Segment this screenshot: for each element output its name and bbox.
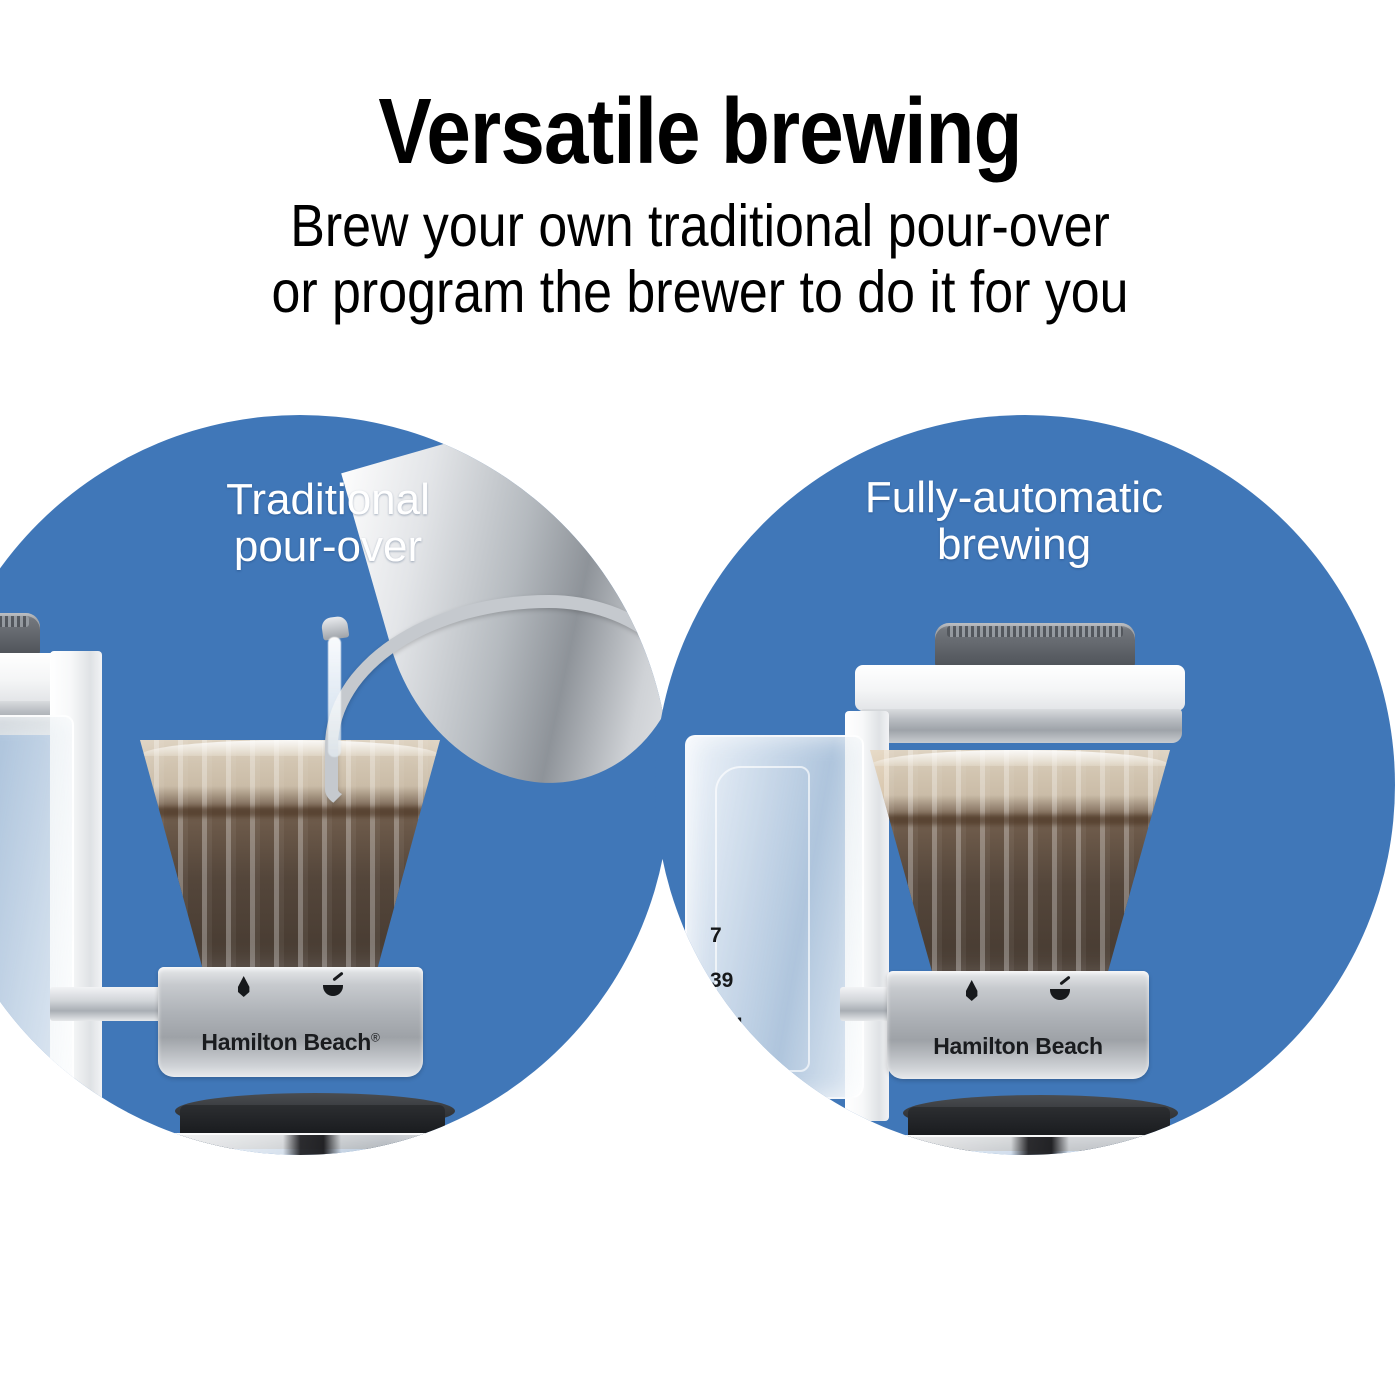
reservoir-mark: 591 <box>710 1015 774 1036</box>
reservoir-mark: 39 <box>710 970 774 991</box>
pouring-water-stream <box>328 637 341 757</box>
water-drop-icon <box>964 980 979 1001</box>
glass-carafe-traditional <box>145 1133 479 1155</box>
reservoir-mark: 296 <box>710 1105 774 1126</box>
carafe-measurement-strip <box>283 1135 341 1155</box>
registered-mark: ® <box>371 1030 380 1044</box>
brewer-cap-icon <box>0 613 40 657</box>
panel-label-line-2: brewing <box>655 522 1373 569</box>
gooseneck-spout <box>325 595 670 811</box>
pour-over-icon <box>323 976 345 996</box>
brand-text: Hamilton Beach <box>933 1033 1103 1059</box>
brand-collar-traditional: Hamilton Beach® <box>158 967 423 1077</box>
product-comparison-stage: Traditional pour-over 83 35 87 39 91 44 … <box>0 0 1400 1400</box>
carafe-measurement-strip <box>1011 1137 1069 1155</box>
coffee-grounds-line <box>882 815 1158 825</box>
water-reservoir <box>0 715 74 1099</box>
brand-name: Hamilton Beach <box>887 1033 1149 1060</box>
reservoir-unit-label: mL <box>703 1067 745 1101</box>
brand-collar-automatic: Hamilton Beach <box>887 971 1149 1079</box>
brewer-white-band <box>855 665 1185 711</box>
collar-icon-row <box>158 976 423 997</box>
reservoir-mark: 7 <box>710 925 774 946</box>
panel-label-line-2: pour-over <box>0 524 670 571</box>
cone-ribs <box>870 750 1170 975</box>
collar-icon-row <box>887 980 1149 1001</box>
brand-text: Hamilton Beach <box>201 1029 371 1055</box>
glass-carafe-automatic <box>873 1135 1207 1155</box>
brand-name: Hamilton Beach® <box>158 1029 423 1056</box>
brewer-cap-icon <box>935 623 1135 669</box>
reservoir-measurement-marks: 7 39 591 444 296 <box>710 925 774 1150</box>
glass-brew-cone <box>870 750 1170 975</box>
water-drop-icon <box>236 976 251 997</box>
panel-label-line-1: Traditional <box>0 477 670 524</box>
brewer-silver-band <box>860 709 1182 743</box>
panel-label-traditional: Traditional pour-over <box>0 477 670 570</box>
panel-label-line-1: Fully-automatic <box>655 475 1373 522</box>
pour-over-icon <box>1050 980 1072 1000</box>
panel-fully-automatic: Fully-automatic brewing 7 39 591 444 296… <box>655 415 1395 1155</box>
panel-traditional-pour-over: Traditional pour-over 83 35 87 39 91 44 … <box>0 415 670 1155</box>
panel-label-automatic: Fully-automatic brewing <box>655 475 1395 568</box>
